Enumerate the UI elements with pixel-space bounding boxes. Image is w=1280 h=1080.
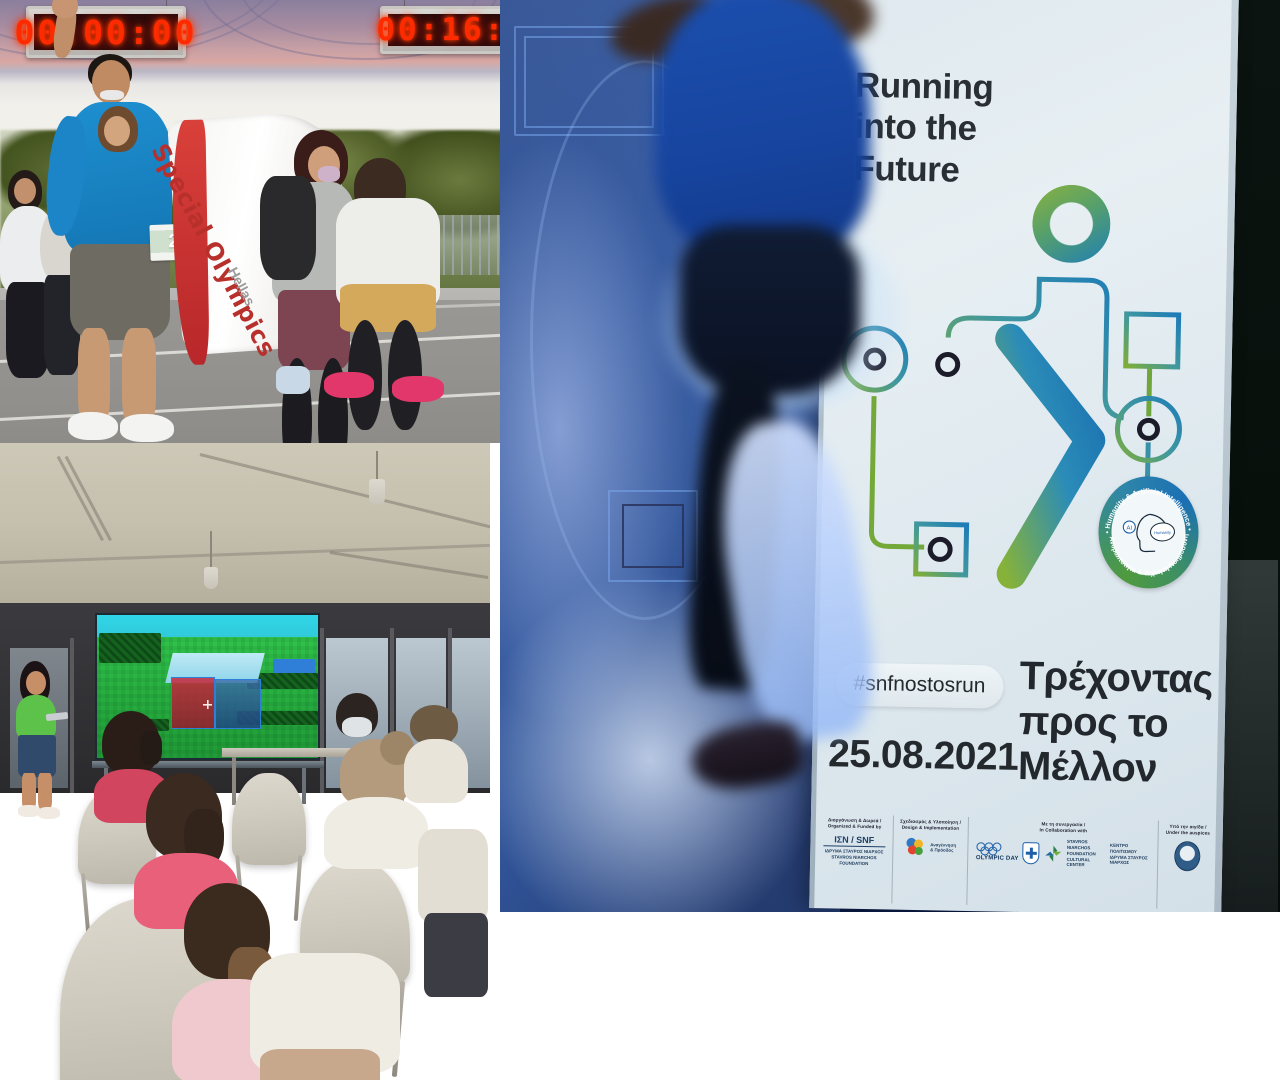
audience-member <box>330 693 386 763</box>
pendant-rod <box>376 451 378 481</box>
greek-line2: προς το <box>1018 699 1212 747</box>
olympic-day-label: OLYMPIC DAY <box>976 855 1019 862</box>
photo-audience-screen <box>0 443 490 1080</box>
badge-face-icon: AI Humanity <box>1120 509 1177 557</box>
snfcc-label-en: STAVROS NIARCHOS FOUNDATION CULTURAL CEN… <box>1066 839 1107 868</box>
olympic-rings-icon <box>976 842 1002 855</box>
photo-finish-line: 00:00:00 00:16:01 <box>0 0 582 443</box>
auspices-seal-icon <box>1174 841 1201 871</box>
humanity-ai-badge: • Humanity & Artificial Intelligence • Α… <box>1097 475 1201 590</box>
runner-torso <box>655 0 870 255</box>
hellenic-olympic-committee-icon <box>1023 842 1040 864</box>
snfcc-logo-icon <box>1044 843 1064 863</box>
runner-silhouette <box>600 0 930 910</box>
face-mask <box>342 717 372 737</box>
window-mullion <box>70 638 74 793</box>
sponsor-collaboration: Με τη συνεργασία / In Collaboration with… <box>966 817 1158 909</box>
badge-ai-text: AI <box>1126 526 1132 532</box>
greek-line1: Τρέχοντας <box>1019 654 1213 702</box>
photo-collage: 00:00:00 00:16:01 <box>0 0 1280 1080</box>
minecraft-forest <box>99 633 161 663</box>
pendant-rod <box>210 531 212 569</box>
audience-member <box>406 705 468 801</box>
volunteer <box>330 158 450 418</box>
pendant-lamp <box>204 567 218 589</box>
greek-line3: Μέλλον <box>1018 744 1212 792</box>
badge-humanity-text: Humanity <box>1154 530 1171 536</box>
sponsor-logos <box>1163 841 1211 872</box>
minecraft-building <box>165 653 263 731</box>
photo-event-poster: Running into the Future <box>500 0 1280 912</box>
sponsor-auspices: Υπό την αιγίδα / Under the auspices <box>1157 821 1217 910</box>
crosshair-icon <box>203 700 212 709</box>
sponsor-logos: OLYMPIC DAY STAVROS NIARCHOS FOUNDATION … <box>973 837 1153 869</box>
runner-shoe <box>687 716 806 796</box>
screen-leg <box>302 768 306 804</box>
pendant-lamp <box>369 479 385 505</box>
runner-shorts <box>680 225 860 395</box>
design-logo-sub: & Πρόοδος <box>930 848 956 854</box>
snfcc-label-gr: ΚΕΝΤΡΟ ΠΟΛΙΤΙΣΜΟΥ ΙΔΡΥΜΑ ΣΤΑΥΡΟΣ ΝΙΑΡΧΟΣ <box>1110 843 1150 867</box>
minecraft-facade <box>215 679 261 729</box>
audience-member <box>418 829 490 999</box>
audience-member <box>250 953 410 1080</box>
spectator <box>92 106 144 176</box>
window-mullion <box>320 628 324 793</box>
presenter <box>14 661 60 821</box>
poster-title-greek: Τρέχοντας προς το Μέλλον <box>1018 654 1214 792</box>
runner-leg <box>706 412 884 748</box>
sponsor-caption-en: Under the auspices <box>1164 830 1212 837</box>
